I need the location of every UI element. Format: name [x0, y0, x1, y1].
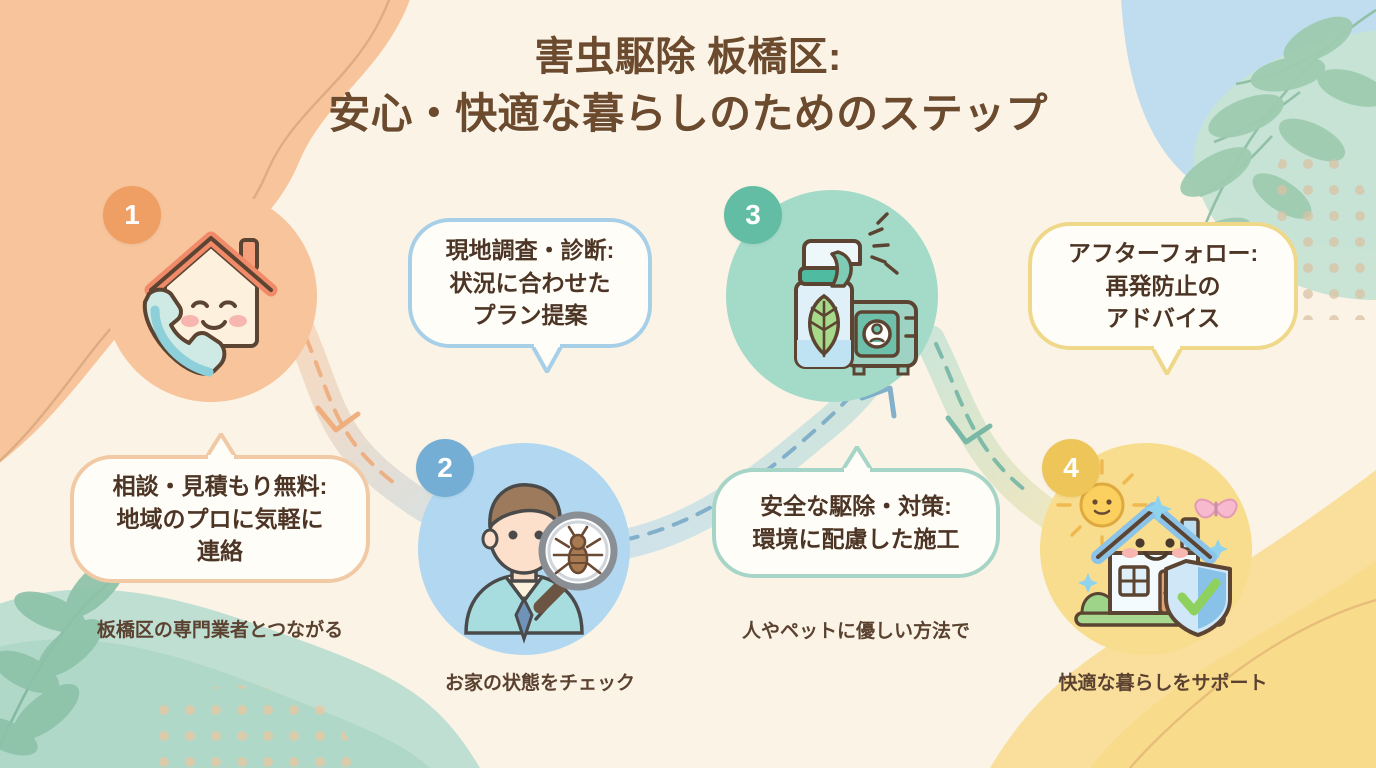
step-1-number: 1: [124, 199, 140, 231]
step-3-bubble-line-2: 環境に配慮した施工: [753, 526, 960, 552]
step-4-bubble-tail: [1150, 345, 1184, 375]
step-1-circle[interactable]: 1: [105, 190, 317, 402]
step-1-bubble-line-2: 地域のプロに気軽に: [116, 506, 323, 532]
step-4-caption: 快適な暮らしをサポート: [1018, 668, 1308, 695]
step-3-number: 3: [745, 199, 761, 231]
step-1-caption: 板橋区の専門業者とつながる: [70, 615, 370, 642]
step-4-badge: 4: [1042, 439, 1100, 497]
page-title: 害虫駆除 板橋区: 安心・快適な暮らしのためのステップ: [0, 32, 1376, 141]
step-3-circle[interactable]: 3: [726, 190, 938, 402]
step-3-bubble-tail: [840, 446, 874, 472]
step-4-circle[interactable]: 4: [1040, 443, 1252, 655]
step-3-caption: 人やペットに優しい方法で: [706, 616, 1006, 643]
step-3-bubble-line-1: 安全な駆除・対策:: [760, 493, 952, 519]
infographic-canvas: 害虫駆除 板橋区: 安心・快適な暮らしのためのステップ 1: [0, 0, 1376, 768]
step-1-bubble-line-3: 連絡: [197, 538, 243, 564]
step-4-bubble[interactable]: アフターフォロー: 再発防止の アドバイス: [1028, 222, 1298, 350]
step-2-caption: お家の状態をチェック: [398, 668, 682, 695]
step-2-badge: 2: [416, 439, 474, 497]
step-4-bubble-line-2: 再発防止の: [1106, 273, 1221, 299]
title-line-2: 安心・快適な暮らしのためのステップ: [0, 87, 1376, 141]
title-line-1: 害虫駆除 板橋区:: [0, 32, 1376, 83]
step-2-circle[interactable]: 2: [418, 443, 630, 655]
step-2-bubble-tail: [530, 343, 564, 373]
step-2-bubble-line-1: 現地調査・診断:: [446, 237, 615, 263]
step-2-bubble-line-3: プラン提案: [472, 302, 587, 328]
step-4-number: 4: [1063, 452, 1079, 484]
step-4-bubble-line-3: アドバイス: [1106, 305, 1220, 331]
step-3-bubble[interactable]: 安全な駆除・対策: 環境に配慮した施工: [712, 468, 1000, 578]
step-2-number: 2: [437, 452, 453, 484]
step-2-bubble-line-2: 状況に合わせた: [449, 270, 610, 296]
step-4-bubble-line-1: アフターフォロー:: [1068, 240, 1258, 266]
step-1-bubble-tail: [204, 433, 238, 459]
step-1-bubble-line-1: 相談・見積もり無料:: [113, 473, 328, 499]
step-1-bubble[interactable]: 相談・見積もり無料: 地域のプロに気軽に 連絡: [70, 455, 370, 583]
step-3-badge: 3: [724, 186, 782, 244]
step-1-badge: 1: [103, 186, 161, 244]
step-2-bubble[interactable]: 現地調査・診断: 状況に合わせた プラン提案: [408, 218, 652, 348]
